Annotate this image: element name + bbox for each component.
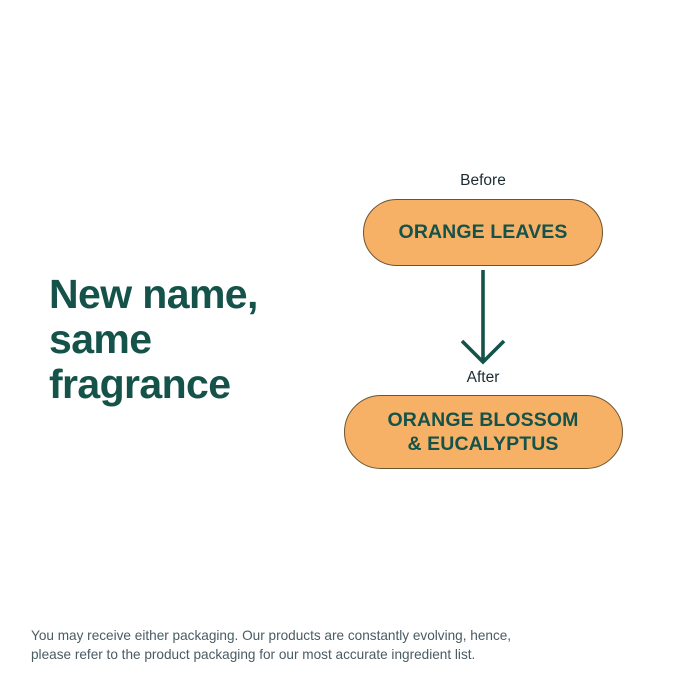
- before-product-pill: ORANGE LEAVES: [363, 199, 603, 266]
- after-label: After: [467, 369, 500, 387]
- before-label: Before: [460, 172, 506, 190]
- rename-flow: Before ORANGE LEAVES After ORANGE BLOSSO…: [333, 172, 633, 469]
- packaging-disclaimer: You may receive either packaging. Our pr…: [31, 626, 631, 664]
- after-product-pill: ORANGE BLOSSOM & EUCALYPTUS: [344, 395, 623, 469]
- after-product-name: ORANGE BLOSSOM & EUCALYPTUS: [388, 408, 579, 456]
- headline: New name, same fragrance: [49, 272, 339, 407]
- before-product-name: ORANGE LEAVES: [399, 221, 568, 244]
- arrow-down-icon: [453, 269, 513, 365]
- promo-graphic: New name, same fragrance Before ORANGE L…: [0, 0, 679, 679]
